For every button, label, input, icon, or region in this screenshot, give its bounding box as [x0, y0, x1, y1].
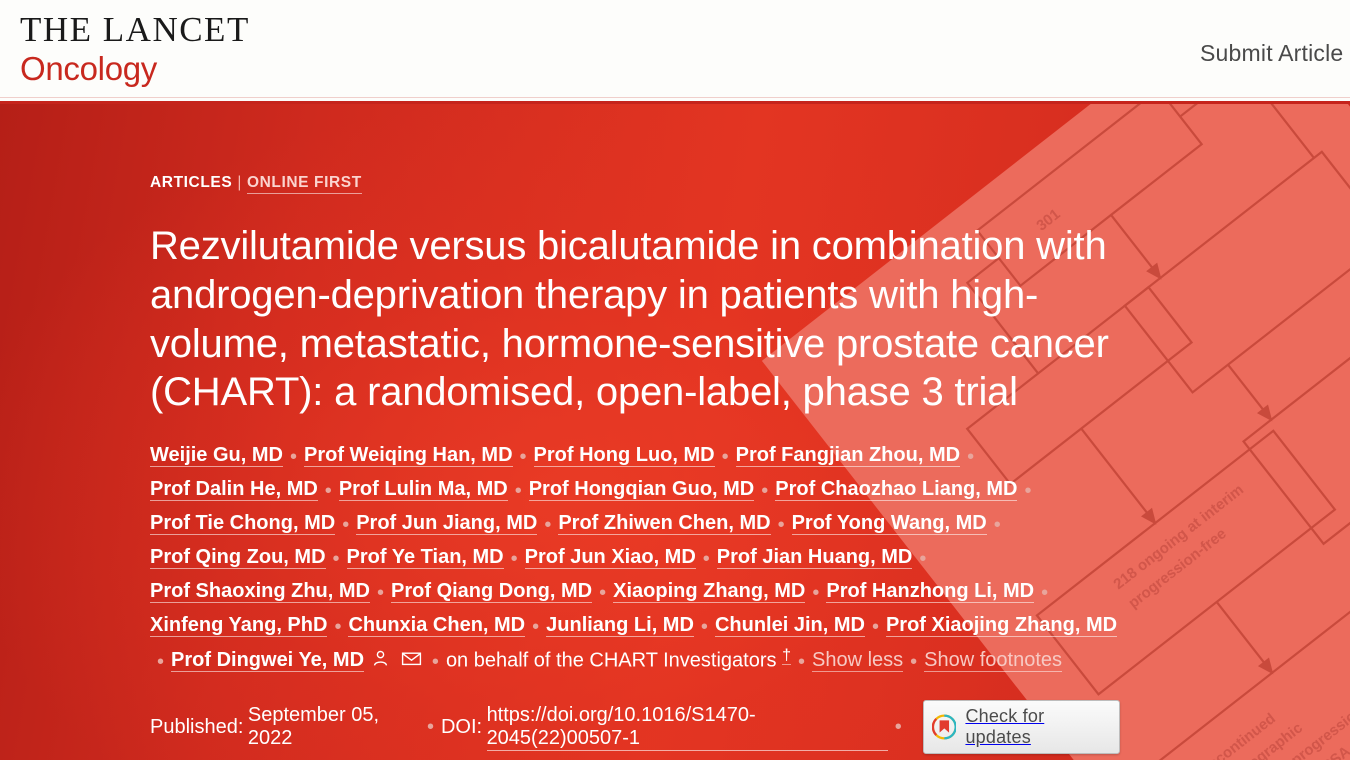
page-title: Rezvilutamide versus bicalutamide in com… — [150, 222, 1120, 417]
separator-dot — [157, 646, 164, 678]
author-link[interactable]: Xiaoping Zhang, MD — [613, 580, 805, 603]
author-link[interactable]: Junliang Li, MD — [546, 614, 694, 637]
svg-text:218 ongoing at interim: 218 ongoing at interim — [1110, 481, 1247, 593]
journal-masthead[interactable]: THE LANCET Oncology — [0, 12, 250, 85]
author-link[interactable]: Prof Weiqing Han, MD — [304, 444, 513, 467]
author-link[interactable]: Prof Dalin He, MD — [150, 478, 318, 501]
author-link[interactable]: Weijie Gu, MD — [150, 444, 283, 467]
separator-dot — [427, 716, 434, 739]
author-link[interactable]: Prof Jun Xiao, MD — [525, 546, 696, 569]
svg-text:13 radiographic: 13 radiographic — [1207, 719, 1305, 760]
svg-text:elevated PSA: elevated PSA — [1268, 743, 1350, 760]
crossmark-label: Check for updates — [965, 706, 1107, 748]
separator-dot — [599, 577, 606, 609]
footnote-marker[interactable]: † — [782, 647, 791, 665]
author-link[interactable]: Prof Jian Huang, MD — [717, 546, 913, 569]
kicker-separator: | — [237, 174, 242, 191]
svg-text:progression-free: progression-free — [1125, 525, 1229, 612]
kicker-category: ARTICLES — [150, 174, 232, 191]
article-hero: 218 ongoing at interim progression-free … — [0, 104, 1350, 760]
author-link[interactable]: Chunlei Jin, MD — [715, 614, 865, 637]
separator-dot — [520, 441, 527, 473]
article-page: THE LANCET Oncology Submit Article — [0, 0, 1350, 760]
separator-dot — [325, 475, 332, 507]
svg-text:27 discontinued: 27 discontinued — [1178, 710, 1278, 760]
author-link[interactable]: Prof Tie Chong, MD — [150, 512, 335, 535]
header-nav: Submit Article — [1200, 40, 1350, 67]
doi-label: DOI: — [441, 716, 482, 739]
separator-dot — [377, 577, 384, 609]
author-link[interactable]: Prof Hongqian Guo, MD — [529, 478, 755, 501]
separator-dot — [872, 611, 879, 643]
published-date: September 05, 2022 — [248, 704, 420, 750]
separator-dot — [515, 475, 522, 507]
submit-article-link[interactable]: Submit Article — [1200, 40, 1343, 66]
author-link[interactable]: Prof Fangjian Zhou, MD — [736, 444, 960, 467]
separator-dot — [511, 543, 518, 575]
separator-dot — [290, 441, 297, 473]
crossmark-check-for-updates-button[interactable]: Check for updates — [923, 700, 1120, 754]
author-link[interactable]: Prof Chaozhao Liang, MD — [775, 478, 1017, 501]
separator-dot — [1024, 475, 1031, 507]
separator-dot — [334, 611, 341, 643]
separator-dot — [812, 577, 819, 609]
author-link[interactable]: Chunxia Chen, MD — [348, 614, 525, 637]
show-footnotes-link[interactable]: Show footnotes — [924, 649, 1062, 672]
envelope-icon[interactable] — [401, 649, 422, 677]
author-link[interactable]: Prof Hanzhong Li, MD — [826, 580, 1034, 603]
separator-dot — [761, 475, 768, 507]
author-link[interactable]: Prof Dingwei Ye, MD — [171, 649, 364, 672]
separator-dot — [532, 611, 539, 643]
author-link[interactable]: Prof Yong Wang, MD — [792, 512, 987, 535]
publication-line: Published: September 05, 2022 DOI: https… — [150, 700, 1120, 754]
author-list: Weijie Gu, MDProf Weiqing Han, MDProf Ho… — [150, 439, 1120, 678]
separator-dot — [967, 441, 974, 473]
author-link[interactable]: Prof Qing Zou, MD — [150, 546, 326, 569]
author-link[interactable]: Prof Hong Luo, MD — [534, 444, 715, 467]
site-header: THE LANCET Oncology Submit Article — [0, 0, 1350, 104]
author-link[interactable]: Prof Zhiwen Chen, MD — [558, 512, 770, 535]
separator-dot — [722, 441, 729, 473]
separator-dot — [342, 509, 349, 541]
separator-dot — [910, 646, 917, 678]
show-less-link[interactable]: Show less — [812, 649, 903, 672]
person-icon[interactable] — [371, 649, 390, 677]
doi-link[interactable]: https://doi.org/10.1016/S1470-2045(22)00… — [487, 704, 888, 751]
separator-dot — [333, 543, 340, 575]
separator-dot — [701, 611, 708, 643]
published-label: Published: — [150, 716, 243, 739]
group-attribution: on behalf of the CHART Investigators — [446, 649, 782, 671]
separator-dot — [703, 543, 710, 575]
kicker-online-first-link[interactable]: ONLINE FIRST — [247, 174, 362, 194]
masthead-oncology: Oncology — [20, 52, 250, 85]
separator-dot — [778, 509, 785, 541]
breadcrumb: ARTICLES|ONLINE FIRST — [150, 174, 1120, 192]
author-link[interactable]: Prof Qiang Dong, MD — [391, 580, 592, 603]
crossmark-icon — [932, 714, 957, 740]
separator-dot — [1041, 577, 1048, 609]
hero-content: ARTICLES|ONLINE FIRST Rezvilutamide vers… — [0, 104, 1120, 754]
author-link[interactable]: Prof Jun Jiang, MD — [356, 512, 537, 535]
author-link[interactable]: Prof Ye Tian, MD — [347, 546, 504, 569]
masthead-lancet: THE LANCET — [20, 12, 250, 47]
svg-text:8 clinical progression: 8 clinical progression — [1235, 702, 1350, 760]
author-link[interactable]: Prof Lulin Ma, MD — [339, 478, 508, 501]
separator-dot — [895, 716, 902, 739]
header-divider — [0, 97, 1350, 98]
separator-dot — [994, 509, 1001, 541]
separator-dot — [544, 509, 551, 541]
separator-dot — [432, 646, 439, 678]
separator-dot — [919, 543, 926, 575]
svg-text:4 investigator: 4 investigator — [1293, 753, 1350, 760]
author-link[interactable]: Xinfeng Yang, PhD — [150, 614, 327, 637]
author-link[interactable]: Prof Xiaojing Zhang, MD — [886, 614, 1117, 637]
separator-dot — [798, 646, 805, 678]
author-link[interactable]: Prof Shaoxing Zhu, MD — [150, 580, 370, 603]
